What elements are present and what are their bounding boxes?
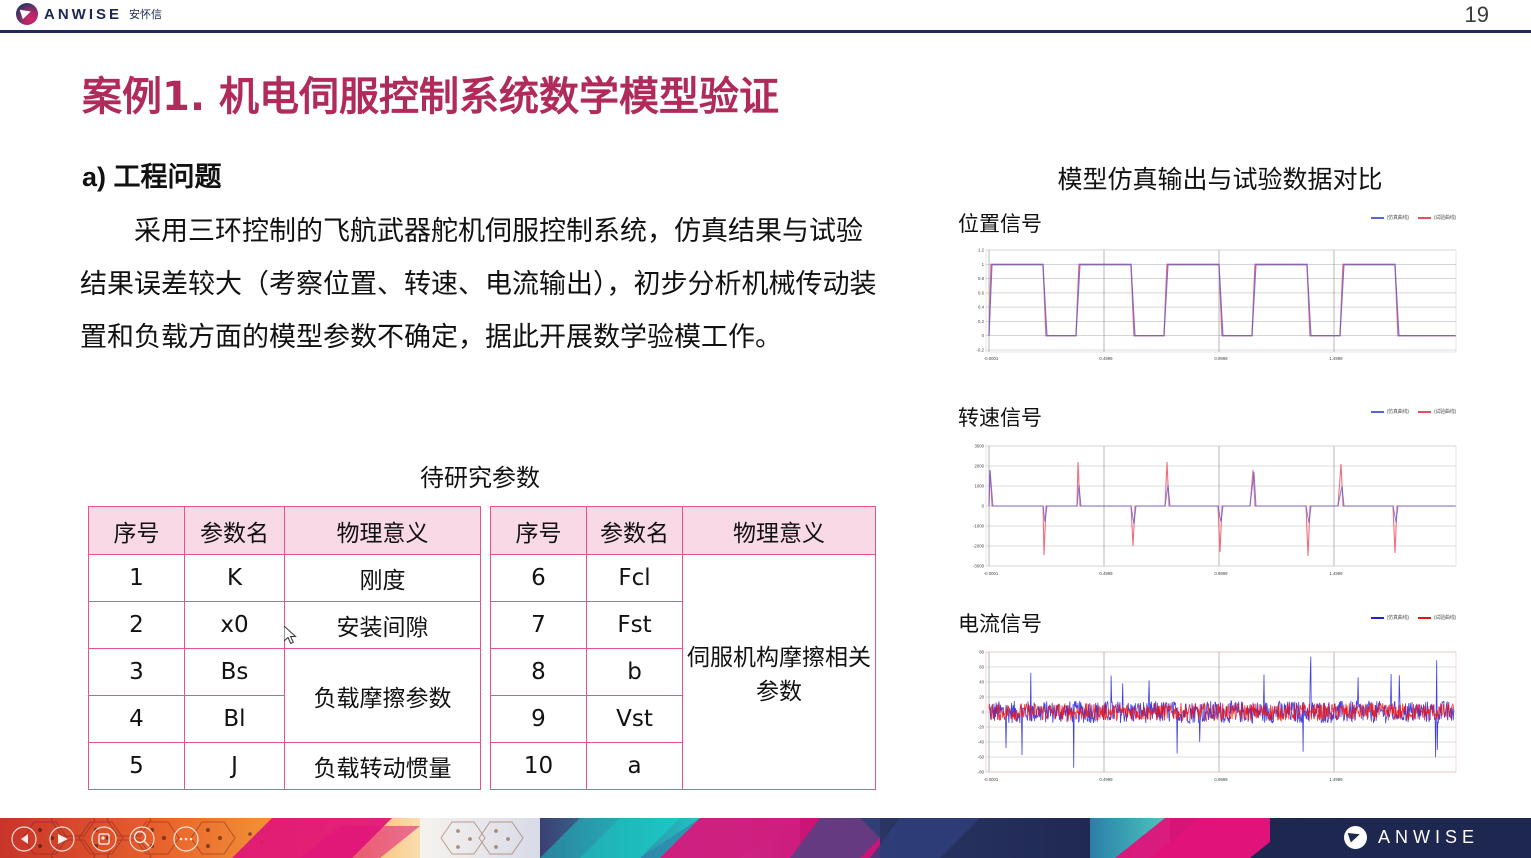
chart-legend-speed: (仿真曲线) (试验曲线) bbox=[1371, 408, 1456, 415]
svg-text:0.4999: 0.4999 bbox=[1099, 777, 1113, 782]
svg-text:-0.0001: -0.0001 bbox=[984, 356, 999, 361]
svg-text:-0.2: -0.2 bbox=[977, 348, 985, 353]
page-number: 19 bbox=[1465, 2, 1489, 28]
col-header-index: 序号 bbox=[89, 507, 185, 555]
chart-current-signal: 电流信号 (仿真曲线) (试验曲线) bbox=[958, 608, 1458, 805]
svg-text:60: 60 bbox=[979, 665, 984, 670]
svg-text:1.2: 1.2 bbox=[978, 248, 985, 253]
svg-text:-3000: -3000 bbox=[973, 564, 985, 569]
footer-banner: ANWISE bbox=[0, 818, 1531, 858]
chart-position-signal: 位置信号 (仿真曲线) (试验曲线) bbox=[958, 208, 1458, 395]
table-row: 1 K 刚度 bbox=[89, 555, 481, 602]
parameters-table-right: 序号 参数名 物理意义 6 Fcl 伺服机构摩擦相关参数 7 Fst 8 b 9… bbox=[490, 506, 876, 790]
cell-param-name: Fst bbox=[587, 602, 683, 649]
legend-item-sim: (仿真曲线) bbox=[1371, 614, 1409, 621]
svg-text:-60: -60 bbox=[978, 755, 985, 760]
brand-name: ANWISE bbox=[44, 7, 122, 22]
svg-text:1.4999: 1.4999 bbox=[1329, 571, 1343, 576]
cell-meaning: 负载转动惯量 bbox=[285, 743, 481, 790]
page-title: 案例1. 机电伺服控制系统数学模型验证 bbox=[82, 64, 779, 122]
svg-text:0.6: 0.6 bbox=[978, 290, 985, 295]
cell-index: 3 bbox=[89, 649, 185, 696]
svg-text:1.4999: 1.4999 bbox=[1329, 777, 1343, 782]
cell-param-name: a bbox=[587, 743, 683, 790]
svg-text:-40: -40 bbox=[978, 740, 985, 745]
svg-text:0.8: 0.8 bbox=[978, 276, 985, 281]
svg-text:1: 1 bbox=[982, 262, 985, 267]
cell-meaning: 刚度 bbox=[285, 555, 481, 602]
chart-title-position: 位置信号 bbox=[958, 208, 1458, 238]
footer-brand-logo: ANWISE bbox=[1344, 826, 1479, 849]
col-header-param-name: 参数名 bbox=[185, 507, 285, 555]
cell-param-name: b bbox=[587, 649, 683, 696]
svg-text:0.4999: 0.4999 bbox=[1099, 571, 1113, 576]
parameters-table-left: 序号 参数名 物理意义 1 K 刚度 2 x0 安装间隙 3 Bs 负载摩擦参数 bbox=[88, 506, 481, 790]
svg-text:0: 0 bbox=[982, 504, 985, 509]
table-row: 5 J 负载转动惯量 bbox=[89, 743, 481, 790]
more-icon bbox=[180, 838, 193, 841]
chart-title-current: 电流信号 bbox=[958, 608, 1458, 638]
legend-item-test: (试验曲线) bbox=[1418, 614, 1456, 621]
svg-text:0.4: 0.4 bbox=[978, 305, 985, 310]
plot-area-position: 1.21 0.80.6 0.40.2 0-0.2 -0.00010.4999 0… bbox=[958, 240, 1458, 395]
legend-item-test: (试验曲线) bbox=[1418, 214, 1456, 221]
svg-text:80: 80 bbox=[979, 650, 984, 655]
cell-param-name: Bs bbox=[185, 649, 285, 696]
charts-section-title: 模型仿真输出与试验数据对比 bbox=[960, 160, 1480, 196]
svg-text:20: 20 bbox=[979, 695, 984, 700]
legend-item-sim: (仿真曲线) bbox=[1371, 408, 1409, 415]
col-header-param-name: 参数名 bbox=[587, 507, 683, 555]
footer-decoration bbox=[0, 818, 1531, 858]
cell-index: 7 bbox=[491, 602, 587, 649]
top-header-bar: ANWISE 安怀信 19 bbox=[0, 0, 1531, 31]
col-header-meaning: 物理意义 bbox=[683, 507, 876, 555]
cell-index: 9 bbox=[491, 696, 587, 743]
svg-text:0: 0 bbox=[982, 710, 985, 715]
table-row: 3 Bs 负载摩擦参数 bbox=[89, 649, 481, 696]
svg-text:1.4999: 1.4999 bbox=[1329, 356, 1343, 361]
svg-text:0: 0 bbox=[982, 333, 985, 338]
anwise-logo-icon bbox=[1344, 826, 1367, 849]
col-header-index: 序号 bbox=[491, 507, 587, 555]
cell-param-name: Bl bbox=[185, 696, 285, 743]
col-header-meaning: 物理意义 bbox=[285, 507, 481, 555]
plot-area-speed: 30002000 10000 -1000-2000 -3000 -0.00010… bbox=[958, 434, 1458, 599]
svg-text:-2000: -2000 bbox=[973, 544, 985, 549]
chart-speed-signal: 转速信号 (仿真曲线) (试验曲线) bbox=[958, 402, 1458, 599]
cell-index: 5 bbox=[89, 743, 185, 790]
svg-text:2000: 2000 bbox=[974, 464, 984, 469]
cell-index: 1 bbox=[89, 555, 185, 602]
cell-param-name: x0 bbox=[185, 602, 285, 649]
table-header-row: 序号 参数名 物理意义 bbox=[89, 507, 481, 555]
anwise-logo-icon bbox=[16, 3, 38, 25]
cell-index: 4 bbox=[89, 696, 185, 743]
svg-text:-0.0001: -0.0001 bbox=[984, 777, 999, 782]
body-paragraph: 采用三环控制的飞航武器舵机伺服控制系统，仿真结果与试验结果误差较大（考察位置、转… bbox=[80, 205, 885, 364]
cell-meaning-merged: 伺服机构摩擦相关参数 bbox=[683, 555, 876, 790]
cell-index: 10 bbox=[491, 743, 587, 790]
cell-param-name: Fcl bbox=[587, 555, 683, 602]
table-header-row: 序号 参数名 物理意义 bbox=[491, 507, 876, 555]
chart-title-speed: 转速信号 bbox=[958, 402, 1458, 432]
footer-brand-name: ANWISE bbox=[1378, 827, 1479, 848]
chart-legend-position: (仿真曲线) (试验曲线) bbox=[1371, 214, 1456, 221]
cell-meaning: 安装间隙 bbox=[285, 602, 481, 649]
svg-text:-1000: -1000 bbox=[973, 524, 985, 529]
chart-legend-current: (仿真曲线) (试验曲线) bbox=[1371, 614, 1456, 621]
cell-param-name: J bbox=[185, 743, 285, 790]
parameters-tables: 序号 参数名 物理意义 1 K 刚度 2 x0 安装间隙 3 Bs 负载摩擦参数 bbox=[88, 506, 874, 790]
table-caption: 待研究参数 bbox=[0, 458, 960, 493]
cell-param-name: K bbox=[185, 555, 285, 602]
legend-item-sim: (仿真曲线) bbox=[1371, 214, 1409, 221]
cell-meaning-merged: 负载摩擦参数 bbox=[285, 649, 481, 743]
svg-text:0.4999: 0.4999 bbox=[1099, 356, 1113, 361]
section-heading: a) 工程问题 bbox=[82, 155, 222, 194]
svg-text:1000: 1000 bbox=[974, 484, 984, 489]
mouse-cursor-icon bbox=[284, 626, 298, 646]
svg-text:0.9999: 0.9999 bbox=[1214, 777, 1228, 782]
table-row: 6 Fcl 伺服机构摩擦相关参数 bbox=[491, 555, 876, 602]
brand-name-cn: 安怀信 bbox=[129, 6, 162, 22]
svg-text:-80: -80 bbox=[978, 770, 985, 775]
cell-param-name: Vst bbox=[587, 696, 683, 743]
cell-index: 8 bbox=[491, 649, 587, 696]
cell-index: 2 bbox=[89, 602, 185, 649]
svg-text:-20: -20 bbox=[978, 725, 985, 730]
svg-text:-0.0001: -0.0001 bbox=[984, 571, 999, 576]
header-divider bbox=[0, 30, 1531, 33]
legend-item-test: (试验曲线) bbox=[1418, 408, 1456, 415]
cell-index: 6 bbox=[491, 555, 587, 602]
svg-text:40: 40 bbox=[979, 680, 984, 685]
svg-text:0.9999: 0.9999 bbox=[1214, 571, 1228, 576]
svg-text:3000: 3000 bbox=[974, 444, 984, 449]
brand-logo: ANWISE 安怀信 bbox=[16, 3, 162, 25]
svg-text:0.2: 0.2 bbox=[978, 319, 985, 324]
plot-area-current: 8060 4020 0-20 -40-60 -80 -0.00010.4999 … bbox=[958, 640, 1458, 805]
svg-text:0.9999: 0.9999 bbox=[1214, 356, 1228, 361]
